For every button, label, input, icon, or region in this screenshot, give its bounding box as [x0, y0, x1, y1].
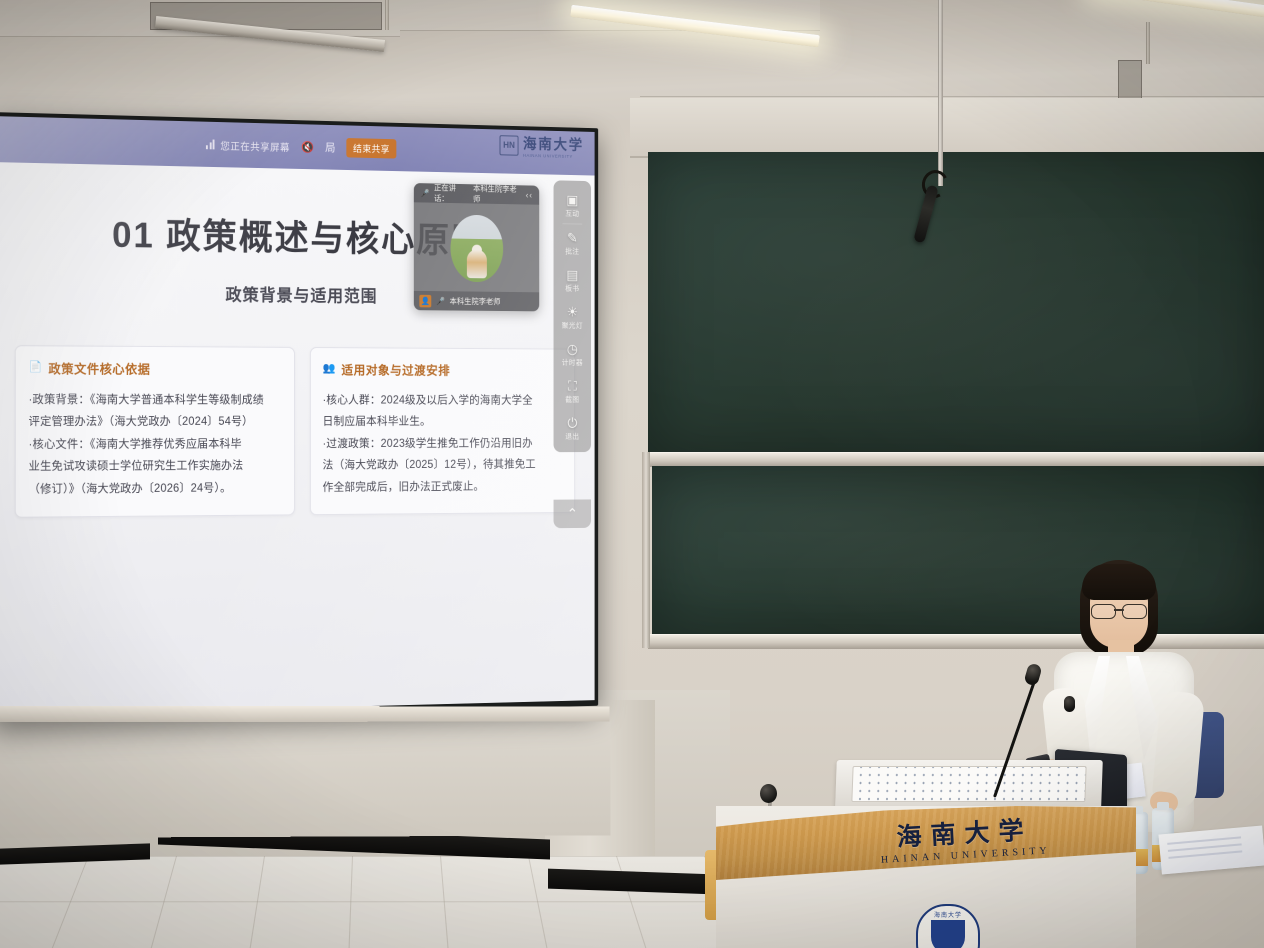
whiteboard-icon: ▤ — [566, 268, 578, 281]
floor-tiles — [0, 856, 809, 948]
avatar-body — [467, 249, 487, 278]
presenter-glasses — [1090, 604, 1148, 617]
document-icon: 📄 — [29, 362, 43, 373]
toolbar-label-annotate: 批注 — [565, 246, 579, 257]
presenter-hair-front — [1082, 564, 1156, 600]
screen-support-panel — [0, 718, 611, 838]
card-line: 评定管理办法》（海大党政办〔2024〕54号） — [29, 411, 282, 433]
share-status: 您正在共享屏幕 — [206, 137, 290, 154]
people-icon: 👥 — [323, 364, 336, 375]
toolbar-collapse-button[interactable]: ⌃ — [554, 499, 591, 528]
classroom-scene: 您正在共享屏幕 🔇 局 结束共享 HN 海南大学 HAINAN UNIVERSI… — [0, 0, 1264, 948]
layout-icon[interactable]: 局 — [325, 139, 335, 155]
toolbar-label-interact: 互动 — [565, 208, 579, 219]
university-logo: HN 海南大学 HAINAN UNIVERSITY — [500, 132, 584, 159]
power-icon: ⏻ — [567, 416, 577, 429]
lavalier-mic — [1064, 696, 1075, 712]
wall-upper-band — [630, 98, 1264, 158]
toolbar-label-exit: 退出 — [565, 431, 579, 441]
card-line: ·过渡政策：2023级学生推免工作仍沿用旧办 — [323, 433, 563, 455]
ceiling-rod-right — [1146, 22, 1150, 64]
screen-bottom-trim — [0, 706, 610, 722]
podium-speaker-grill — [851, 766, 1086, 802]
mic-icon: 🎤 — [420, 188, 429, 197]
card-scope-transition-body: ·核心人群：2024级及以后入学的海南大学全 日制应届本科毕业生。 ·过渡政策：… — [323, 390, 563, 499]
interact-icon: ▣ — [566, 193, 578, 207]
podium-microphone — [760, 784, 777, 803]
speaking-name-label: 本科生院李老师 — [473, 183, 521, 205]
mute-icon[interactable]: 🔇 — [301, 140, 314, 153]
classroom-toolbar: ▣ 互动 ✎ 批注 ▤ 板书 ☀ 聚光灯 ◷ 计时器 — [554, 180, 591, 452]
card-line: 作全部完成后，旧办法正式废止。 — [323, 476, 563, 499]
card-scope-transition: 👥 适用对象与过渡安排 ·核心人群：2024级及以后入学的海南大学全 日制应届本… — [309, 347, 575, 515]
speaker-video-header: 🎤 正在讲话： 本科生院李老师 ‹‹ — [414, 183, 539, 205]
toolbar-label-screenshot: 截图 — [565, 394, 579, 404]
toolbar-item-whiteboard[interactable]: ▤ 板书 — [554, 261, 591, 298]
share-status-label: 您正在共享屏幕 — [220, 137, 290, 153]
card-line: ·核心文件：《海南大学推荐优秀应届本科毕 — [29, 433, 282, 456]
toolbar-item-timer[interactable]: ◷ 计时器 — [554, 335, 591, 372]
card-policy-basis: 📄 政策文件核心依据 ·政策背景：《海南大学普通本科学生等级制成绩 评定管理办法… — [15, 345, 295, 518]
floor — [0, 856, 760, 948]
participant-badge-icon: 👤 — [419, 294, 431, 307]
signal-bars-icon — [206, 139, 215, 149]
speaker-video-tile[interactable]: 🎤 正在讲话： 本科生院李老师 ‹‹ 👤 🎤 本科生院李老师 — [414, 183, 539, 311]
toolbar-label-timer: 计时器 — [562, 357, 583, 368]
speaking-prefix-label: 正在讲话： — [434, 183, 469, 204]
card-policy-basis-header: 📄 政策文件核心依据 — [29, 358, 282, 378]
university-crest: 海南大学 — [916, 904, 980, 948]
university-logo-mark: HN — [500, 135, 519, 156]
university-logo-cn: 海南大学 — [523, 136, 584, 154]
spotlight-icon: ☀ — [567, 305, 578, 318]
speaker-video-footer: 👤 🎤 本科生院李老师 — [414, 291, 539, 311]
crest-inner-shape — [931, 920, 965, 948]
chevron-up-icon: ⌃ — [567, 505, 578, 522]
end-share-button[interactable]: 结束共享 — [347, 138, 397, 159]
card-line: （修订）》（海大党政办〔2026〕24号）。 — [29, 477, 282, 501]
card-scope-transition-heading: 适用对象与过渡安排 — [341, 360, 450, 379]
card-line: 法（海大党政办〔2025〕12号），待其推免工 — [323, 454, 563, 477]
card-policy-basis-body: ·政策背景：《海南大学普通本科学生等级制成绩 评定管理办法》（海大党政办〔202… — [29, 389, 282, 501]
fluorescent-light-2 — [1090, 0, 1264, 19]
card-policy-basis-heading: 政策文件核心依据 — [48, 358, 150, 377]
ceiling-rod-left — [385, 0, 389, 30]
screen-surface: 您正在共享屏幕 🔇 局 结束共享 HN 海南大学 HAINAN UNIVERSI… — [0, 116, 595, 716]
hanging-mic-rod — [938, 0, 943, 186]
card-line: 日制应届本科毕业生。 — [323, 412, 563, 434]
toolbar-item-spotlight[interactable]: ☀ 聚光灯 — [554, 298, 591, 335]
university-logo-en: HAINAN UNIVERSITY — [523, 153, 584, 159]
collapse-tile-icon[interactable]: ‹‹ — [526, 190, 533, 200]
toolbar-item-screenshot[interactable]: ⛶ 截图 — [554, 372, 591, 409]
toolbar-item-annotate[interactable]: ✎ 批注 — [554, 224, 591, 262]
chalkboard-left-frame — [642, 452, 650, 648]
avatar — [450, 215, 503, 283]
toolbar-item-exit[interactable]: ⏻ 退出 — [554, 409, 591, 446]
slide-cards: 📄 政策文件核心依据 ·政策背景：《海南大学普通本科学生等级制成绩 评定管理办法… — [15, 345, 575, 518]
pen-icon: ✎ — [567, 231, 577, 244]
card-line: ·政策背景：《海南大学普通本科学生等级制成绩 — [29, 389, 282, 411]
toolbar-item-interact[interactable]: ▣ 互动 — [554, 186, 591, 224]
crest-label: 海南大学 — [918, 910, 978, 919]
screenshot-icon: ⛶ — [568, 379, 577, 392]
chalkboard-rail-middle — [644, 452, 1264, 467]
timer-icon: ◷ — [567, 342, 578, 355]
toolbar-label-whiteboard: 板书 — [565, 283, 579, 294]
card-scope-transition-header: 👥 适用对象与过渡安排 — [323, 360, 563, 379]
participant-mic-icon: 🎤 — [436, 296, 445, 305]
participant-name-label: 本科生院李老师 — [450, 296, 501, 307]
chalkboard-upper — [648, 152, 1264, 452]
toolbar-label-spotlight: 聚光灯 — [562, 320, 583, 331]
card-line: 业生免试攻读硕士学位研究生工作实施办法 — [29, 455, 282, 478]
card-line: ·核心人群：2024级及以后入学的海南大学全 — [323, 390, 563, 412]
projection-screen: 您正在共享屏幕 🔇 局 结束共享 HN 海南大学 HAINAN UNIVERSI… — [0, 112, 598, 722]
